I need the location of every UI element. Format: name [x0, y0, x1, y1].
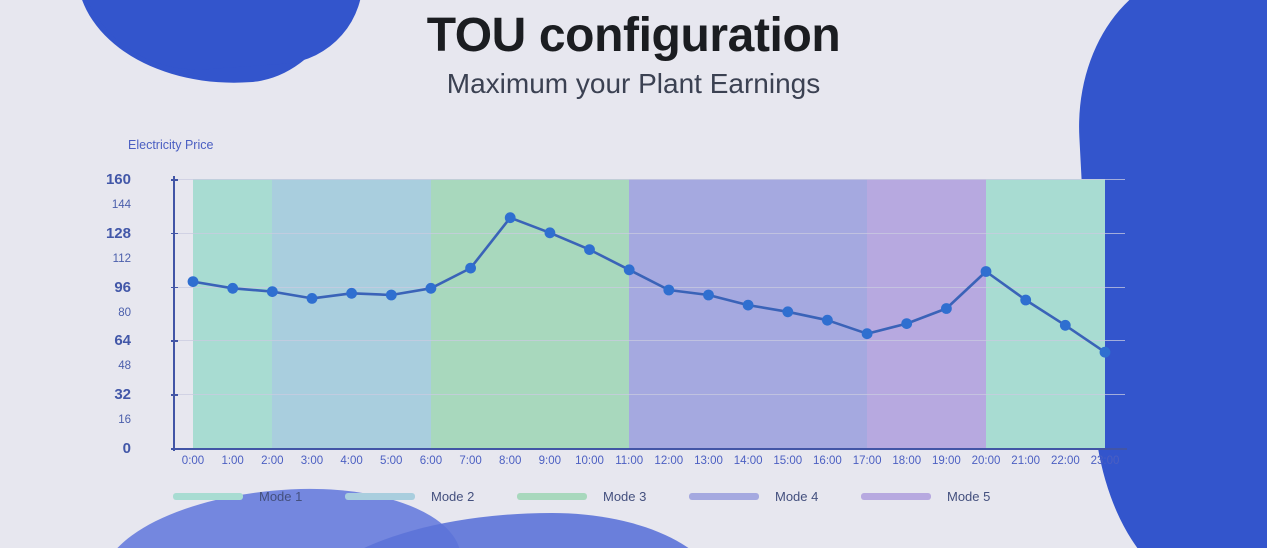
legend-item[interactable]: Mode 1	[173, 489, 345, 504]
legend-item[interactable]: Mode 5	[861, 489, 1033, 504]
data-point-marker[interactable]	[386, 290, 397, 301]
x-axis-tick-label: 10:00	[575, 455, 604, 467]
data-point-marker[interactable]	[862, 328, 873, 339]
x-axis-tick-label: 21:00	[1011, 455, 1040, 467]
y-axis-tick-mark	[171, 287, 178, 289]
y-axis-tick-label: 160	[71, 172, 131, 187]
legend-swatch	[517, 493, 587, 500]
data-point-marker[interactable]	[188, 276, 199, 287]
data-point-marker[interactable]	[267, 286, 278, 297]
x-axis-tick-label: 6:00	[420, 455, 442, 467]
y-axis-tick-mark	[171, 179, 178, 181]
data-point-marker[interactable]	[941, 303, 952, 314]
y-axis-tick-mark	[171, 448, 178, 450]
legend-swatch	[173, 493, 243, 500]
data-point-marker[interactable]	[545, 227, 556, 238]
data-point-marker[interactable]	[1020, 295, 1031, 306]
y-axis-tick-label: 0	[71, 441, 131, 456]
y-axis-tick-mark	[171, 394, 178, 396]
y-axis-tick-mark	[171, 233, 178, 235]
data-point-marker[interactable]	[981, 266, 992, 277]
x-axis-tick-label: 18:00	[892, 455, 921, 467]
x-axis-tick-label: 15:00	[773, 455, 802, 467]
y-axis-tick-label: 32	[71, 387, 131, 402]
legend-label: Mode 3	[603, 489, 646, 504]
data-point-marker[interactable]	[1060, 320, 1071, 331]
y-axis-tick-mark	[171, 340, 178, 342]
data-point-marker[interactable]	[782, 306, 793, 317]
x-axis-tick-label: 12:00	[654, 455, 683, 467]
legend-label: Mode 4	[775, 489, 818, 504]
y-axis-tick-label: 144	[71, 200, 131, 212]
data-point-marker[interactable]	[663, 285, 674, 296]
page-title: TOU configuration	[0, 8, 1267, 63]
data-point-marker[interactable]	[465, 263, 476, 274]
x-axis-tick-label: 8:00	[499, 455, 521, 467]
y-axis-line	[173, 176, 175, 451]
price-line	[193, 218, 1105, 353]
x-axis-tick-label: 0:00	[182, 455, 204, 467]
page-header: TOU configuration Maximum your Plant Ear…	[0, 0, 1267, 101]
y-axis-tick-label: 112	[71, 254, 131, 266]
x-axis-tick-label: 4:00	[340, 455, 362, 467]
chart-legend: Mode 1Mode 2Mode 3Mode 4Mode 5	[173, 485, 1127, 507]
x-axis-tick-label: 7:00	[459, 455, 481, 467]
data-point-marker[interactable]	[703, 290, 714, 301]
x-axis-tick-label: 23:00	[1091, 455, 1120, 467]
y-axis-tick-label: 48	[71, 361, 131, 373]
legend-item[interactable]: Mode 4	[689, 489, 861, 504]
legend-label: Mode 5	[947, 489, 990, 504]
x-axis-tick-label: 11:00	[615, 455, 643, 467]
page-subtitle: Maximum your Plant Earnings	[0, 67, 1267, 101]
y-axis-tick-label: 96	[71, 280, 131, 295]
x-axis-tick-label: 5:00	[380, 455, 402, 467]
legend-item[interactable]: Mode 3	[517, 489, 689, 504]
legend-item[interactable]: Mode 2	[345, 489, 517, 504]
data-point-marker[interactable]	[584, 244, 595, 255]
data-point-marker[interactable]	[624, 264, 635, 275]
data-point-marker[interactable]	[426, 283, 437, 294]
data-point-marker[interactable]	[1100, 347, 1111, 358]
x-axis-tick-label: 17:00	[853, 455, 882, 467]
legend-label: Mode 1	[259, 489, 302, 504]
y-axis-tick-label: 80	[71, 308, 131, 320]
data-point-marker[interactable]	[822, 315, 833, 326]
data-point-marker[interactable]	[227, 283, 238, 294]
x-axis-tick-label: 16:00	[813, 455, 842, 467]
x-axis-tick-label: 9:00	[539, 455, 561, 467]
plot-area	[173, 179, 1125, 448]
data-point-marker[interactable]	[901, 318, 912, 329]
y-axis-tick-label: 16	[71, 415, 131, 427]
legend-label: Mode 2	[431, 489, 474, 504]
x-axis-tick-label: 3:00	[301, 455, 323, 467]
data-point-marker[interactable]	[307, 293, 318, 304]
legend-swatch	[345, 493, 415, 500]
data-point-marker[interactable]	[743, 300, 754, 311]
electricity-price-chart: Electricity Price 0163248648096112128144…	[0, 128, 1267, 528]
x-axis-line	[173, 448, 1127, 450]
x-axis-tick-label: 20:00	[972, 455, 1001, 467]
legend-swatch	[689, 493, 759, 500]
y-axis-tick-label: 64	[71, 333, 131, 348]
data-point-marker[interactable]	[346, 288, 357, 299]
x-axis-tick-label: 1:00	[221, 455, 243, 467]
y-axis-tick-label: 128	[71, 226, 131, 241]
x-axis-tick-label: 14:00	[734, 455, 763, 467]
y-axis-title: Electricity Price	[128, 138, 213, 152]
x-axis-tick-label: 22:00	[1051, 455, 1080, 467]
price-line-series	[173, 179, 1125, 448]
legend-swatch	[861, 493, 931, 500]
x-axis-tick-label: 19:00	[932, 455, 961, 467]
x-axis-tick-label: 13:00	[694, 455, 723, 467]
x-axis-tick-label: 2:00	[261, 455, 283, 467]
data-point-marker[interactable]	[505, 212, 516, 223]
